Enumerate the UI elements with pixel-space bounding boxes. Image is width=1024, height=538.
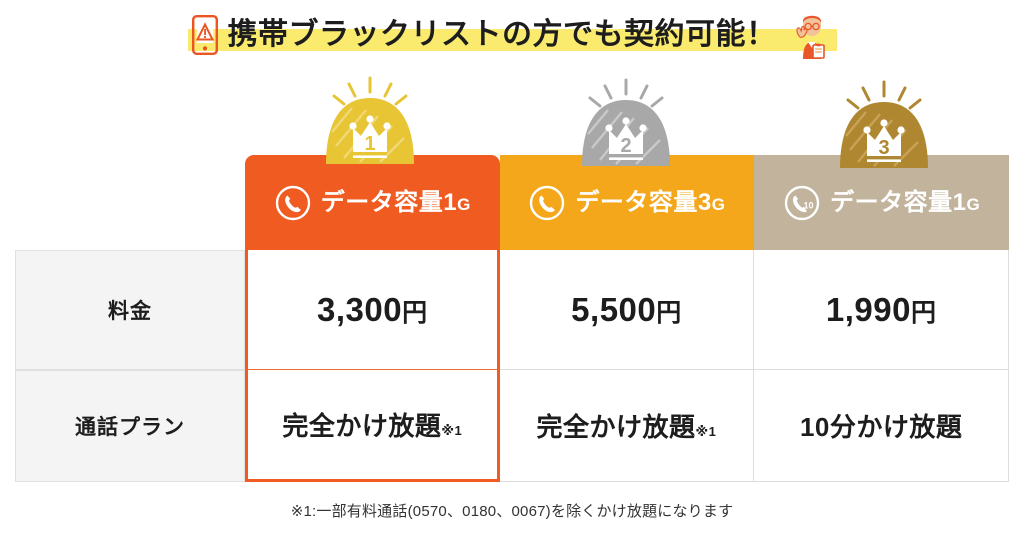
table-row: 通話プラン 完全かけ放題※1 完全かけ放題※1 10分かけ放題 bbox=[15, 370, 1009, 482]
column-header-label-2: データ容量3G bbox=[575, 191, 725, 215]
svg-text:10: 10 bbox=[804, 200, 814, 210]
row-label-price: 料金 bbox=[15, 250, 245, 370]
phone-warning-icon bbox=[192, 15, 218, 55]
cell-price-plan-3: 1,990円 bbox=[754, 250, 1009, 370]
cell-price-plan-1: 3,300円 bbox=[245, 250, 500, 370]
crown-rank-2: 2 bbox=[578, 78, 674, 166]
table-header-row: データ容量1G データ容量3G bbox=[15, 155, 1009, 250]
column-header-label-3: データ容量1G bbox=[830, 191, 980, 215]
crown-rank-number: 2 bbox=[620, 135, 631, 157]
table-corner-blank bbox=[15, 155, 245, 250]
cell-call-plan-3: 10分かけ放題 bbox=[754, 370, 1009, 482]
footnote-text: ※1:一部有料通話(0570、0180、0067)を除くかけ放題になります bbox=[0, 500, 1024, 521]
column-header-plan-1[interactable]: データ容量1G bbox=[245, 155, 500, 250]
pricing-table: データ容量1G データ容量3G bbox=[15, 155, 1009, 482]
phone-in-circle-10min-icon: 10 bbox=[783, 184, 821, 222]
column-header-plan-3[interactable]: 10 データ容量1G bbox=[754, 155, 1009, 250]
phone-in-circle-icon bbox=[274, 184, 312, 222]
table-row: 料金 3,300円 5,500円 1,990円 bbox=[15, 250, 1009, 370]
column-header-plan-2[interactable]: データ容量3G bbox=[500, 155, 755, 250]
crown-rank-1: 1 bbox=[322, 76, 418, 164]
crown-rank-number: 1 bbox=[364, 133, 375, 155]
banner-title: 携帯ブラックリストの方でも契約可能！ bbox=[228, 20, 777, 50]
banner: 携帯ブラックリストの方でも契約可能！ bbox=[0, 0, 1024, 70]
row-label-call-plan: 通話プラン bbox=[15, 370, 245, 482]
phone-in-circle-icon bbox=[528, 184, 566, 222]
cell-call-plan-1: 完全かけ放題※1 bbox=[245, 370, 500, 482]
column-header-label-1: データ容量1G bbox=[321, 191, 471, 215]
cell-call-plan-2: 完全かけ放題※1 bbox=[500, 370, 755, 482]
pricing-table-wrapper: データ容量1G データ容量3G bbox=[15, 155, 1009, 487]
staff-person-clipboard-icon bbox=[791, 11, 833, 59]
cell-price-plan-2: 5,500円 bbox=[500, 250, 755, 370]
